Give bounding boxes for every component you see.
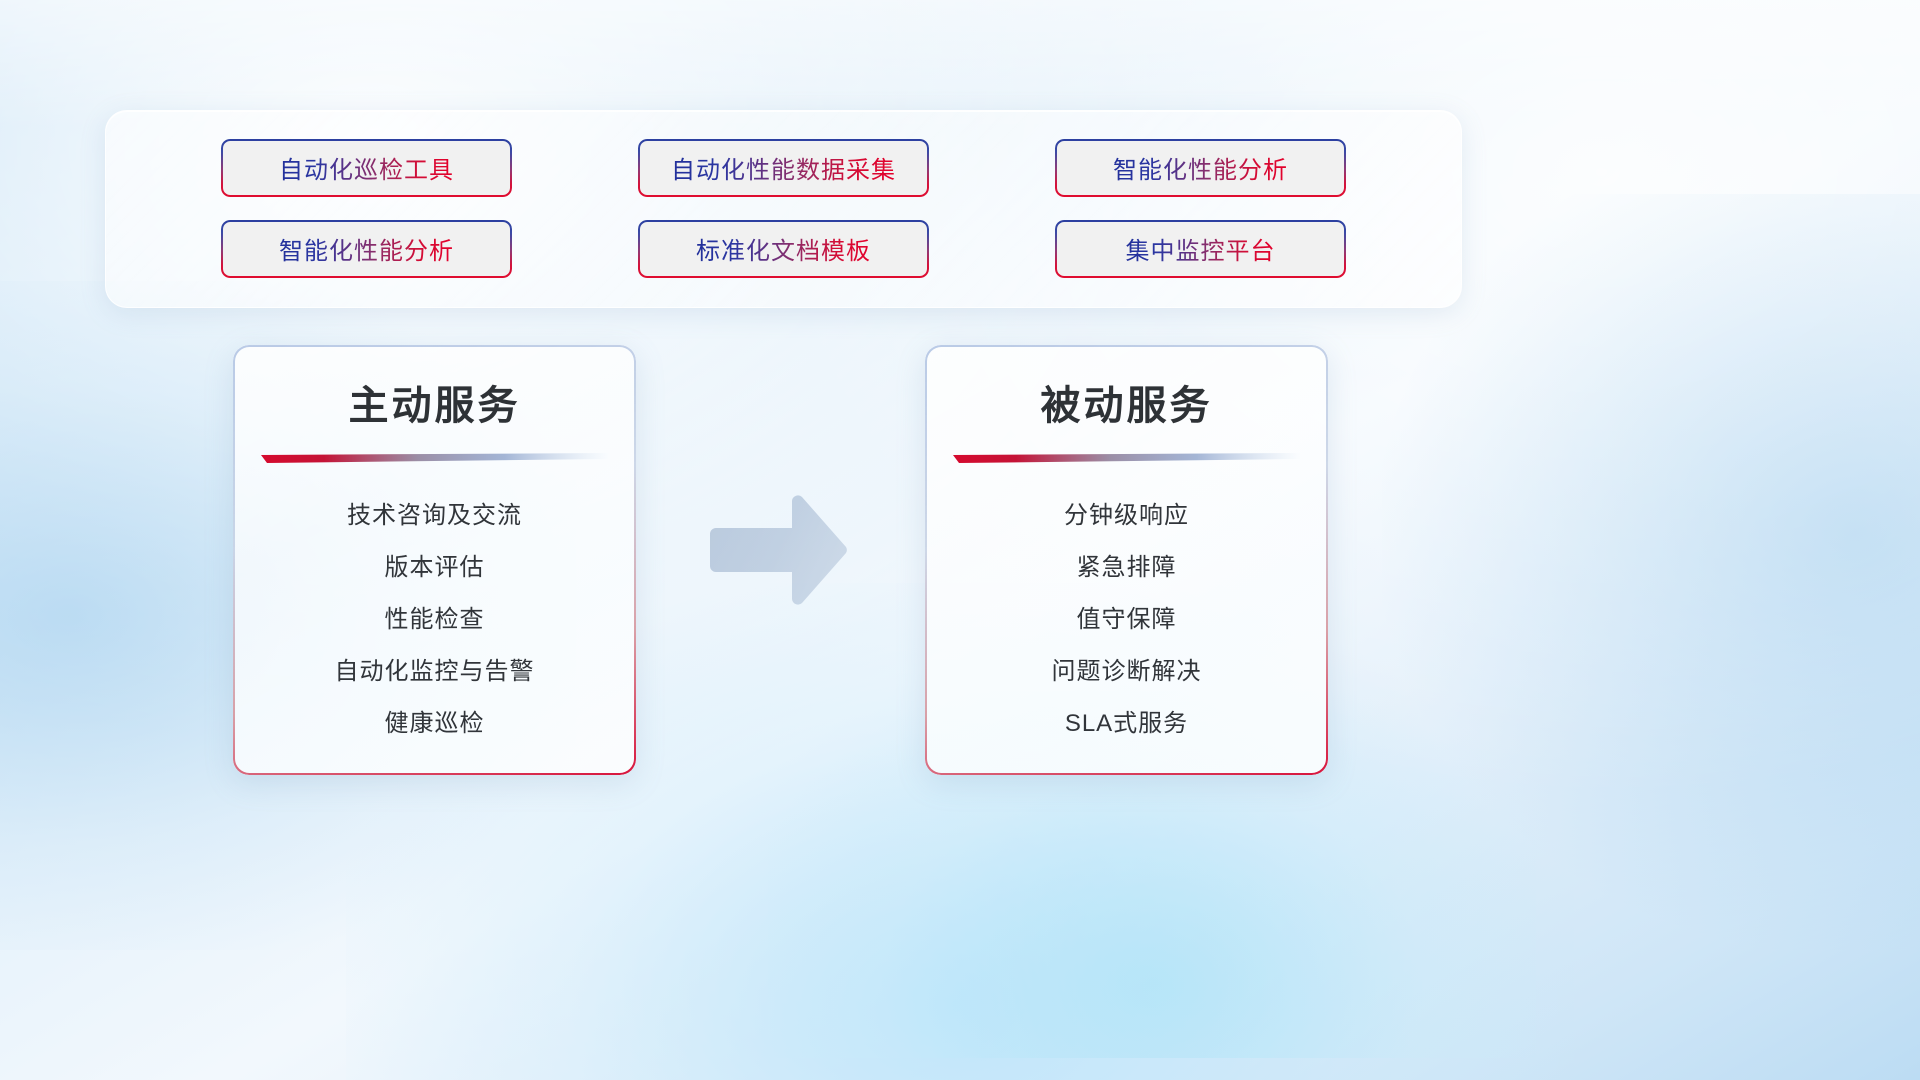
capability-tag[interactable]: 智能化性能分析 <box>1055 139 1346 197</box>
capability-tags-panel: 自动化巡检工具 自动化性能数据采集 智能化性能分析 智能化性能分析 标准化文档模… <box>105 110 1462 308</box>
service-list-item: 技术咨询及交流 <box>347 490 522 542</box>
panel-title: 主动服务 <box>233 373 636 431</box>
capability-tag-grid: 自动化巡检工具 自动化性能数据采集 智能化性能分析 智能化性能分析 标准化文档模… <box>106 111 1461 307</box>
service-list-item: 分钟级响应 <box>1064 490 1189 542</box>
service-list-proactive: 技术咨询及交流 版本评估 性能检查 自动化监控与告警 健康巡检 <box>233 490 636 750</box>
capability-tag-label: 智能化性能分析 <box>279 231 454 266</box>
capability-tag[interactable]: 自动化巡检工具 <box>221 139 512 197</box>
service-list-item: 自动化监控与告警 <box>335 646 535 698</box>
capability-tag[interactable]: 自动化性能数据采集 <box>638 139 929 197</box>
service-list-reactive: 分钟级响应 紧急排障 值守保障 问题诊断解决 SLA式服务 <box>925 490 1328 750</box>
capability-tag[interactable]: 标准化文档模板 <box>638 220 929 278</box>
service-panel-reactive: 被动服务 分钟级响应 紧急排障 值守保障 问题诊断解决 SLA式服务 <box>925 345 1328 775</box>
capability-tag[interactable]: 智能化性能分析 <box>221 220 512 278</box>
service-list-item: 值守保障 <box>1077 594 1177 646</box>
service-list-item: SLA式服务 <box>1065 698 1188 750</box>
capability-tag-label: 自动化性能数据采集 <box>671 150 896 185</box>
service-list-item: 问题诊断解决 <box>1052 646 1202 698</box>
capability-tag-label: 标准化文档模板 <box>696 231 871 266</box>
panel-divider <box>953 453 1301 464</box>
service-list-item: 性能检查 <box>385 594 485 646</box>
capability-tag[interactable]: 集中监控平台 <box>1055 220 1346 278</box>
panel-title: 被动服务 <box>925 373 1328 431</box>
panel-divider <box>261 453 609 464</box>
arrow-right-icon <box>710 495 850 605</box>
capability-tag-label: 智能化性能分析 <box>1113 150 1288 185</box>
service-list-item: 紧急排障 <box>1077 542 1177 594</box>
service-panel-proactive: 主动服务 技术咨询及交流 版本评估 性能检查 自动化监控与告警 健康巡检 <box>233 345 636 775</box>
service-list-item: 版本评估 <box>385 542 485 594</box>
capability-tag-label: 自动化巡检工具 <box>279 150 454 185</box>
capability-tag-label: 集中监控平台 <box>1126 231 1276 266</box>
service-list-item: 健康巡检 <box>385 698 485 750</box>
